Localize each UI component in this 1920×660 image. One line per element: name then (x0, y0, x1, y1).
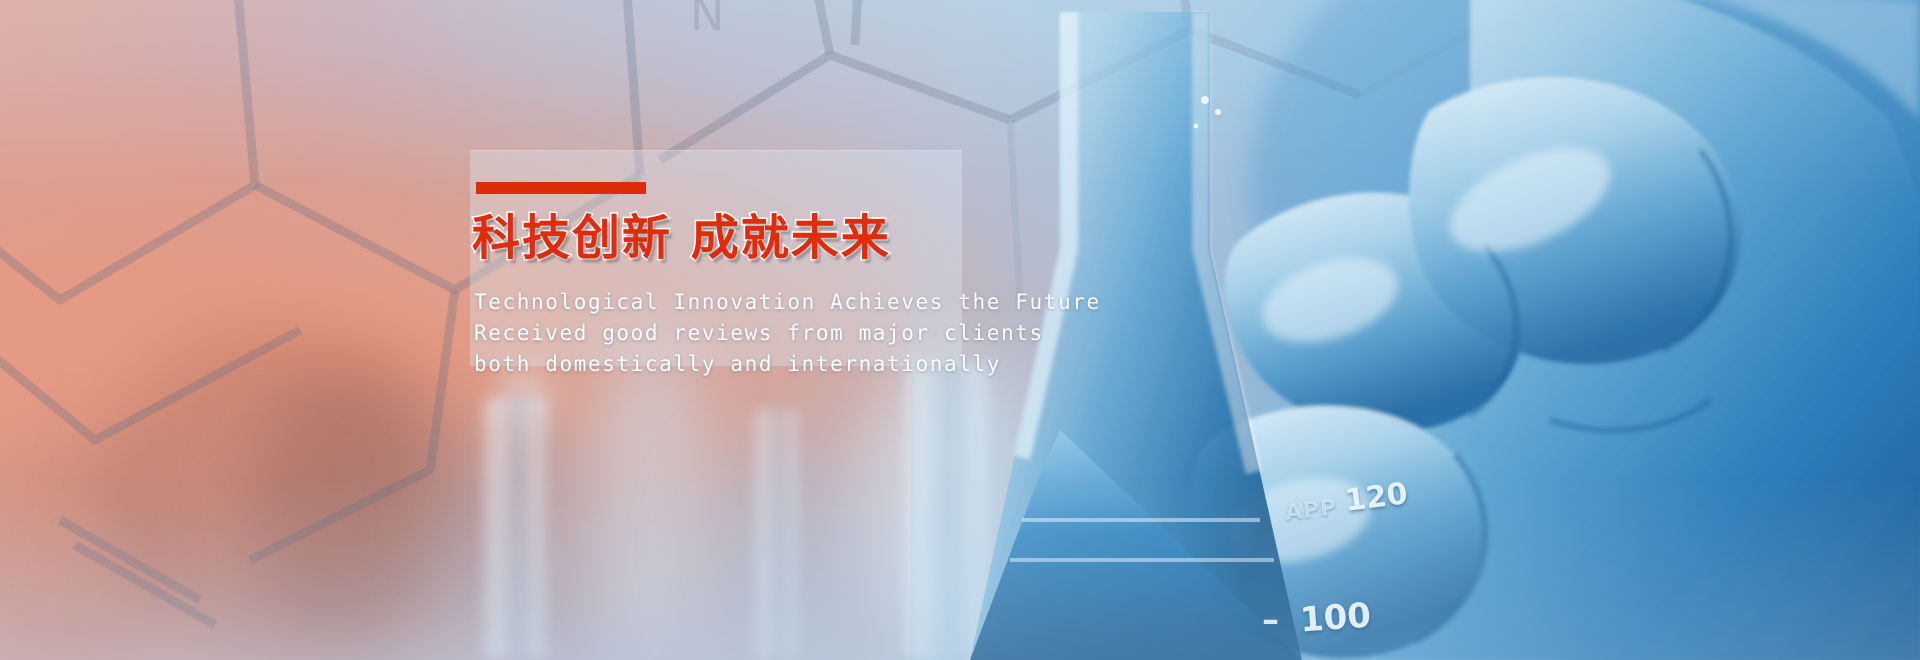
svg-text:N: N (690, 0, 724, 41)
subtitle-line-3: both domestically and internationally (474, 352, 1001, 376)
gloved-hand-flask-illustration (910, 0, 1920, 660)
accent-bar (476, 182, 646, 194)
subtitle-line-2: Received good reviews from major clients (474, 321, 1044, 345)
page-title: 科技创新 成就未来 (472, 210, 891, 267)
lab-photo-hand-flask (910, 0, 1920, 660)
hero-banner: N (0, 0, 1920, 660)
subtitle-line-1: Technological Innovation Achieves the Fu… (474, 290, 1101, 314)
